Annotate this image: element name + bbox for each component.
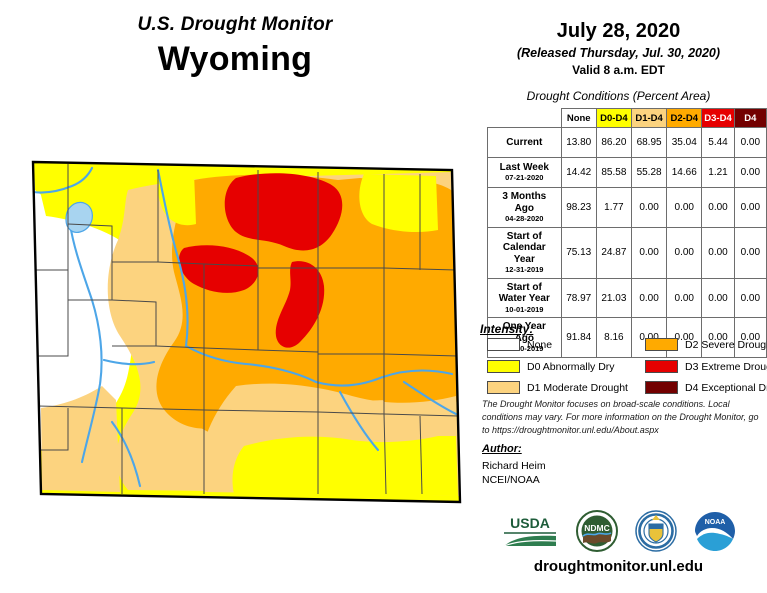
table-cell-value: 91.84 [561,318,596,358]
legend-label-d0: D0 Abnormally Dry [527,361,615,373]
logo-row: USDA NDMC NOAA [470,505,767,557]
svg-text:NDMC: NDMC [584,523,610,533]
table-cell-value: 5.44 [702,128,734,158]
table-cell-value: 78.97 [561,278,596,318]
date-block: July 28, 2020 (Released Thursday, Jul. 3… [470,20,767,77]
table-cell-value: 1.21 [702,158,734,188]
legend-item-d2: D2 Severe Drought [645,338,767,351]
table-cell-value: 35.04 [667,128,702,158]
table-cell-value: 0.00 [631,188,666,228]
table-col-header-d0-d4: D0-D4 [596,109,631,128]
table-cell-value: 0.00 [734,158,766,188]
svg-text:NOAA: NOAA [705,519,726,526]
author-affiliation: NCEI/NOAA [482,473,546,487]
drought-conditions-table: NoneD0-D4D1-D4D2-D4D3-D4D4 Current13.808… [487,108,767,358]
table-cell-value: 85.58 [596,158,631,188]
table-col-header-d1-d4: D1-D4 [631,109,666,128]
legend-swatch-d4 [645,381,678,394]
author-info: Richard Heim NCEI/NOAA [482,459,546,487]
legend-swatch-d2 [645,338,678,351]
table-row-label: Current [488,128,562,158]
legend-title: Intensity: [480,322,533,336]
table-row-label: Start ofWater Year10-01-2019 [488,278,562,318]
table-cell-value: 24.87 [596,227,631,278]
legend-label-d2: D2 Severe Drought [685,339,767,351]
table-row: Start ofCalendar Year12-31-201975.1324.8… [488,227,767,278]
legend-item-none: None [487,338,552,351]
disclaimer-text: The Drought Monitor focuses on broad-sca… [482,398,767,437]
table-cell-value: 0.00 [702,227,734,278]
ndmc-logo: NDMC [576,510,618,552]
program-title: U.S. Drought Monitor [0,14,470,36]
table-cell-value: 0.00 [734,227,766,278]
table-cell-value: 1.77 [596,188,631,228]
website-url[interactable]: droughtmonitor.unl.edu [470,558,767,575]
region-d0-northeast [359,174,438,232]
table-cell-value: 0.00 [702,278,734,318]
table-cell-value: 0.00 [734,188,766,228]
legend-item-d3: D3 Extreme Drought [645,360,767,373]
legend-swatch-none [487,338,520,351]
table-cell-value: 0.00 [667,188,702,228]
table-cell-value: 68.95 [631,128,666,158]
table-cell-value: 0.00 [734,128,766,158]
legend-swatch-d3 [645,360,678,373]
table-cell-value: 13.80 [561,128,596,158]
table-cell-value: 0.00 [734,278,766,318]
table-cell-value: 0.00 [702,188,734,228]
table-cell-value: 0.00 [631,227,666,278]
table-cell-value: 75.13 [561,227,596,278]
page-title: Wyoming [0,40,470,79]
legend-swatch-d1 [487,381,520,394]
table-row: Start ofWater Year10-01-201978.9721.030.… [488,278,767,318]
author-label: Author: [482,443,522,455]
table-col-header-d4: D4 [734,109,766,128]
title-block: U.S. Drought Monitor Wyoming [0,14,470,79]
table-corner-cell [488,109,562,128]
table-row-date: 10-01-2019 [492,306,557,315]
table-cell-value: 0.00 [631,278,666,318]
table-caption: Drought Conditions (Percent Area) [470,89,767,103]
table-col-header-d2-d4: D2-D4 [667,109,702,128]
table-row-label: 3 Months Ago04-28-2020 [488,188,562,228]
table-row-date: 07-21-2020 [492,174,557,183]
table-cell-value: 98.23 [561,188,596,228]
table-row-date: 12-31-2019 [492,266,557,275]
legend-swatch-d0 [487,360,520,373]
release-date: (Released Thursday, Jul. 30, 2020) [470,46,767,60]
table-row-label: Last Week07-21-2020 [488,158,562,188]
unl-seal-logo [635,510,677,552]
usda-logo: USDA [501,513,559,549]
legend-label-d4: D4 Exceptional Drought [685,382,767,394]
drought-map [8,150,468,520]
issue-date: July 28, 2020 [470,20,767,43]
noaa-logo: NOAA [694,510,736,552]
table-cell-value: 14.42 [561,158,596,188]
table-cell-value: 86.20 [596,128,631,158]
author-name: Richard Heim [482,459,546,473]
table-row: Current13.8086.2068.9535.045.440.00 [488,128,767,158]
svg-text:USDA: USDA [510,515,550,531]
legend-item-d1: D1 Moderate Drought [487,381,628,394]
legend-item-d0: D0 Abnormally Dry [487,360,615,373]
table-cell-value: 14.66 [667,158,702,188]
table-row-label: Start ofCalendar Year12-31-2019 [488,227,562,278]
table-cell-value: 0.00 [667,278,702,318]
table-cell-value: 8.16 [596,318,631,358]
valid-time: Valid 8 a.m. EDT [470,63,767,77]
legend-item-d4: D4 Exceptional Drought [645,381,767,394]
table-cell-value: 21.03 [596,278,631,318]
legend-label-d1: D1 Moderate Drought [527,382,628,394]
table-row: Last Week07-21-202014.4285.5855.2814.661… [488,158,767,188]
table-col-header-d3-d4: D3-D4 [702,109,734,128]
legend-label-none: None [527,339,552,351]
table-cell-value: 55.28 [631,158,666,188]
region-d0-south [232,436,458,496]
table-header-row: NoneD0-D4D1-D4D2-D4D3-D4D4 [488,109,767,128]
table-col-header-none: None [561,109,596,128]
table-cell-value: 0.00 [667,227,702,278]
table-row-date: 04-28-2020 [492,215,557,224]
table-row: 3 Months Ago04-28-202098.231.770.000.000… [488,188,767,228]
legend-label-d3: D3 Extreme Drought [685,361,767,373]
